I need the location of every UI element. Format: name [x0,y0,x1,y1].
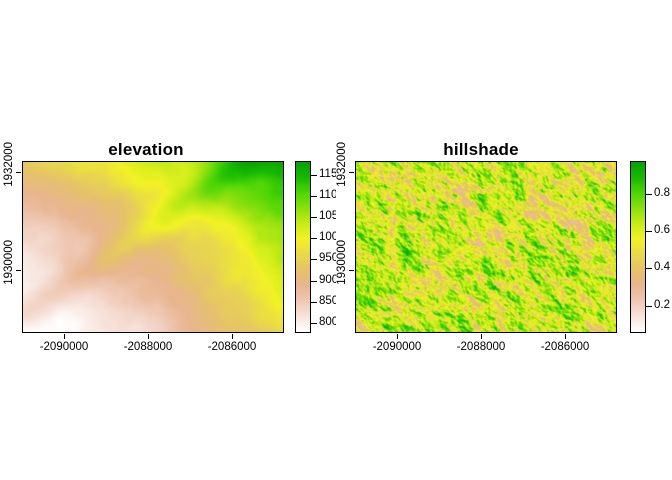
hillshade-ylabel-0: 1930000 [336,240,348,285]
elevation-legend-tick-1 [311,302,317,303]
elevation-ytick-0 [16,270,21,271]
elevation-ytick-1 [16,172,21,173]
hillshade-colorbar-gradient [631,162,645,332]
elevation-ylabel-1: 1932000 [3,142,15,187]
elevation-colorbar [295,161,311,333]
panel-hillshade-clip: hillshade -2090000 -2088000 -2086000 193… [336,0,672,480]
elevation-xtick-2 [232,334,233,339]
elevation-legend-tick-2 [311,281,317,282]
hillshade-title: hillshade [336,140,672,160]
hillshade-legend-tick-1 [646,268,652,269]
hillshade-legend-tick-3 [646,194,652,195]
hillshade-ylabel-1: 1932000 [336,142,348,187]
elevation-legend-tick-7 [311,175,317,176]
hillshade-xtick-0 [397,334,398,339]
hillshade-raster-image [355,161,617,333]
elevation-xlabel-1: -2088000 [124,341,173,353]
elevation-raster-canvas [23,162,283,332]
plot-device: elevation -2090000 -2088000 -2086000 193… [0,0,672,480]
hillshade-ytick-1 [349,172,354,173]
elevation-colorbar-gradient [296,162,310,332]
hillshade-ytick-0 [349,270,354,271]
hillshade-raster-canvas [356,162,616,332]
elevation-legend-label-2: 900 [319,274,336,286]
hillshade-colorbar [630,161,646,333]
elevation-xlabel-0: -2090000 [40,341,89,353]
elevation-title: elevation [0,140,336,160]
elevation-legend-label-1: 850 [319,295,336,307]
elevation-legend-label-3: 950 [319,252,336,264]
elevation-legend-label-7: 1150 [319,168,336,180]
elevation-ylabel-0: 1930000 [3,240,15,285]
hillshade-xlabel-2: -2086000 [541,341,590,353]
elevation-xlabel-2: -2086000 [208,341,257,353]
elevation-legend-label-6: 1100 [319,189,336,201]
hillshade-legend-label-3: 0.8 [654,187,670,199]
elevation-legend-tick-5 [311,217,317,218]
hillshade-xlabel-1: -2088000 [457,341,506,353]
panel-hillshade: hillshade -2090000 -2088000 -2086000 193… [336,0,672,480]
hillshade-legend-tick-0 [646,306,652,307]
panel-elevation-clip: elevation -2090000 -2088000 -2086000 193… [0,0,336,480]
elevation-legend-tick-0 [311,323,317,324]
elevation-xtick-1 [148,334,149,339]
elevation-xtick-0 [64,334,65,339]
elevation-legend-tick-3 [311,259,317,260]
elevation-legend-label-4: 1000 [319,231,336,243]
elevation-legend-tick-6 [311,196,317,197]
elevation-legend-tick-4 [311,238,317,239]
hillshade-legend-label-0: 0.2 [654,299,670,311]
panel-elevation: elevation -2090000 -2088000 -2086000 193… [0,0,336,480]
hillshade-legend-tick-2 [646,231,652,232]
elevation-raster-image [22,161,284,333]
elevation-legend-label-0: 800 [319,316,336,328]
hillshade-xtick-2 [565,334,566,339]
elevation-legend-label-5: 1050 [319,210,336,222]
hillshade-xlabel-0: -2090000 [373,341,422,353]
hillshade-legend-label-2: 0.6 [654,224,670,236]
hillshade-legend-label-1: 0.4 [654,261,670,273]
hillshade-xtick-1 [481,334,482,339]
